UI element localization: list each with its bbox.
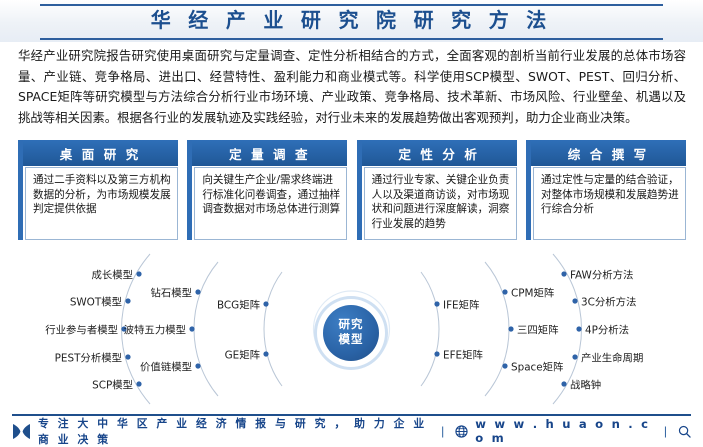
model-label-left-mid-3: 价值链模型 xyxy=(140,359,192,374)
huaon-logo-icon xyxy=(12,423,31,440)
page-title: 华 经 产 业 研 究 院 研 究 方 法 xyxy=(0,9,703,33)
model-label-right-outer-4: 产业生命周期 xyxy=(581,350,643,365)
core-label-line1: 研究 xyxy=(339,318,364,333)
model-label-right-mid-1: CPM矩阵 xyxy=(511,285,554,300)
model-label-left-outer-1: 成长模型 xyxy=(91,267,133,282)
model-label-left-outer-3: 行业参与者模型 xyxy=(45,322,118,337)
card-body-text: 通过行业专家、关键企业负责人以及渠道商访谈，对市场现状和问题进行深度解读，洞察行… xyxy=(364,167,517,240)
model-label-right-outer-2: 3C分析方法 xyxy=(581,294,636,309)
model-label-right-outer-3: 4P分析法 xyxy=(585,322,629,337)
model-label-left-outer-5: SCP模型 xyxy=(92,377,133,392)
model-label-left-inner-1: BCG矩阵 xyxy=(217,297,260,312)
model-label-left-mid-2: 波特五力模型 xyxy=(124,322,186,337)
footer-divider-1: | xyxy=(441,424,444,438)
card-title: 综 合 撰 写 xyxy=(531,140,686,166)
model-label-left-outer-2: SWOT模型 xyxy=(70,294,122,309)
model-label-left-inner-2: GE矩阵 xyxy=(225,347,260,362)
research-model-core: 研究 模型 xyxy=(323,305,379,361)
core-label-line2: 模型 xyxy=(339,333,364,348)
footer-website-url[interactable]: w w w . h u a o n . c o m xyxy=(475,417,653,445)
model-label-left-outer-4: PEST分析模型 xyxy=(55,350,122,365)
card-title: 定 量 调 查 xyxy=(192,140,347,166)
title-banner: 华 经 产 业 研 究 院 研 究 方 法 xyxy=(0,0,703,42)
title-rule-bottom xyxy=(40,38,663,40)
globe-icon xyxy=(455,425,468,438)
card-body-text: 向关键生产企业/需求终端进行标准化问卷调查，通过抽样调查数据对市场总体进行测算 xyxy=(194,167,347,240)
method-card-qualitative-analysis: 定 性 分 析 通过行业专家、关键企业负责人以及渠道商访谈，对市场现状和问题进行… xyxy=(357,140,517,240)
title-rule-top xyxy=(40,4,663,6)
method-card-synthesis-writing: 综 合 撰 写 通过定性与定量的结合验证，对整体市场规模和发展趋势进行综合分析 xyxy=(526,140,686,240)
infographic-page: 华 经 产 业 研 究 院 研 究 方 法 华经产业研究院报告研究使用桌面研究与… xyxy=(0,0,703,446)
footer-tagline: 专 注 大 中 华 区 产 业 经 济 情 报 与 研 究 ， 助 力 企 业 … xyxy=(38,415,430,447)
method-cards-row: 桌 面 研 究 通过二手资料以及第三方机构数据的分析，为市场规模发展判定提供依据… xyxy=(18,140,686,240)
footer-divider-2: | xyxy=(664,424,667,438)
intro-paragraph: 华经产业研究院报告研究使用桌面研究与定量调查、定性分析相结合的方式，全面客观的剖… xyxy=(18,46,686,128)
model-label-right-mid-2: 三四矩阵 xyxy=(517,322,559,337)
method-card-quantitative-survey: 定 量 调 查 向关键生产企业/需求终端进行标准化问卷调查，通过抽样调查数据对市… xyxy=(187,140,347,240)
model-label-right-inner-1: IFE矩阵 xyxy=(443,297,479,312)
search-icon[interactable] xyxy=(678,425,691,438)
method-card-desk-research: 桌 面 研 究 通过二手资料以及第三方机构数据的分析，为市场规模发展判定提供依据 xyxy=(18,140,178,240)
model-label-left-mid-1: 钻石模型 xyxy=(150,285,192,300)
model-label-right-outer-1: FAW分析方法 xyxy=(570,267,633,282)
card-body-text: 通过二手资料以及第三方机构数据的分析，为市场规模发展判定提供依据 xyxy=(25,167,178,240)
model-label-right-mid-3: Space矩阵 xyxy=(511,359,563,374)
model-label-right-outer-5: 战略钟 xyxy=(570,377,601,392)
footer-bar: 专 注 大 中 华 区 产 业 经 济 情 报 与 研 究 ， 助 力 企 业 … xyxy=(0,414,703,446)
model-label-right-inner-2: EFE矩阵 xyxy=(443,347,483,362)
card-title: 桌 面 研 究 xyxy=(23,140,178,166)
card-title: 定 性 分 析 xyxy=(362,140,517,166)
card-body-text: 通过定性与定量的结合验证，对整体市场规模和发展趋势进行综合分析 xyxy=(533,167,686,240)
